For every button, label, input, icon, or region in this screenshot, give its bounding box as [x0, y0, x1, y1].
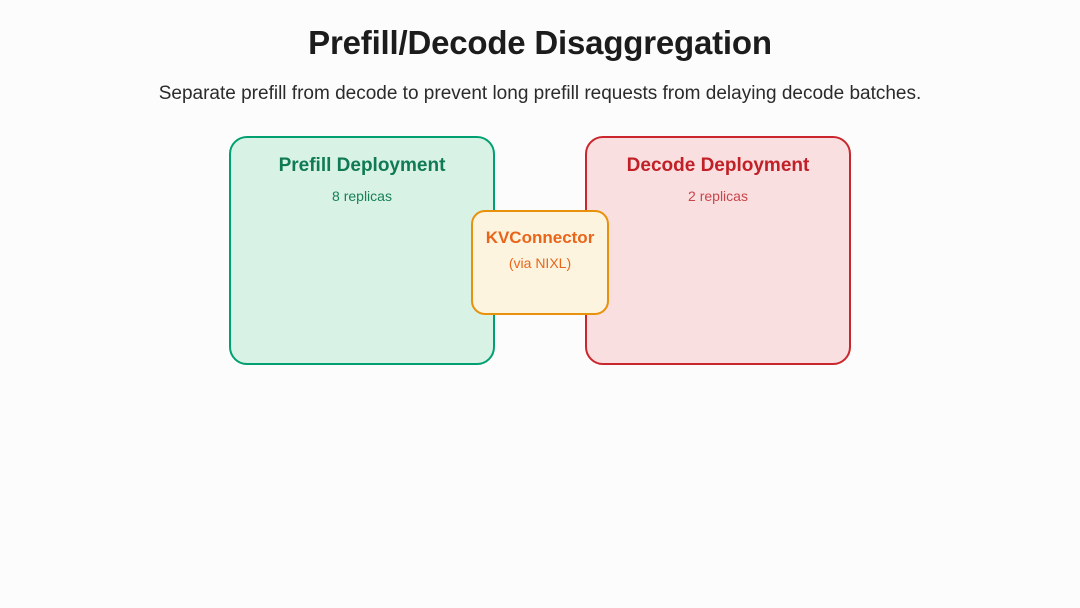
prefill-deployment-replicas: 8 replicas: [231, 188, 493, 204]
kv-connector-title: KVConnector: [463, 228, 617, 248]
slide-canvas: Prefill/Decode Disaggregation Separate p…: [0, 0, 1080, 608]
kv-connector-box: KVConnector (via NIXL): [471, 210, 609, 315]
kv-connector-transport-label: (via NIXL): [463, 255, 617, 271]
page-title: Prefill/Decode Disaggregation: [0, 24, 1080, 62]
page-subtitle: Separate prefill from decode to prevent …: [0, 83, 1080, 105]
decode-deployment-title: Decode Deployment: [587, 155, 849, 177]
decode-deployment-replicas: 2 replicas: [587, 188, 849, 204]
prefill-deployment-box: Prefill Deployment 8 replicas: [229, 136, 495, 365]
decode-deployment-box: Decode Deployment 2 replicas: [585, 136, 851, 365]
prefill-deployment-title: Prefill Deployment: [231, 155, 493, 177]
